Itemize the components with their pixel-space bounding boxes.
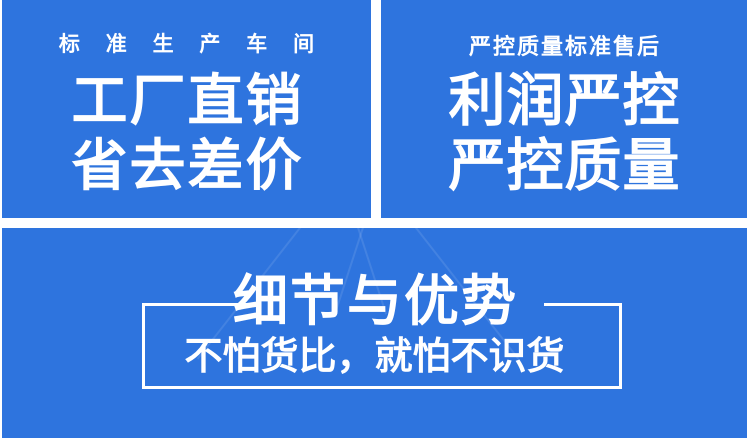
details-advantages-headline: 细节与优势 xyxy=(2,274,747,329)
panel-quality-control: 严控质量标准售后 利润严控 严控质量 xyxy=(381,0,747,218)
details-advantages-subline: 不怕货比，就怕不识货 xyxy=(2,338,747,376)
panel-factory-direct-eyebrow: 标 准 生 产 车 间 xyxy=(2,28,371,58)
panel-factory-direct-line-1: 工厂直销 xyxy=(2,73,371,129)
panel-quality-control-line-1: 利润严控 xyxy=(381,73,747,130)
panel-factory-direct-line-2: 省去差价 xyxy=(2,138,371,194)
diagonal-watermark-pattern xyxy=(2,228,747,438)
panel-factory-direct: 标 准 生 产 车 间 工厂直销 省去差价 xyxy=(2,0,371,218)
panel-quality-control-eyebrow: 严控质量标准售后 xyxy=(381,29,747,61)
panel-details-advantages: 细节与优势 不怕货比，就怕不识货 xyxy=(2,228,747,438)
panel-quality-control-line-2: 严控质量 xyxy=(381,138,747,195)
promo-banner: 标 准 生 产 车 间 工厂直销 省去差价 严控质量标准售后 利润严控 严控质量… xyxy=(0,0,750,440)
headline-frame-bottom-edge xyxy=(142,386,622,389)
